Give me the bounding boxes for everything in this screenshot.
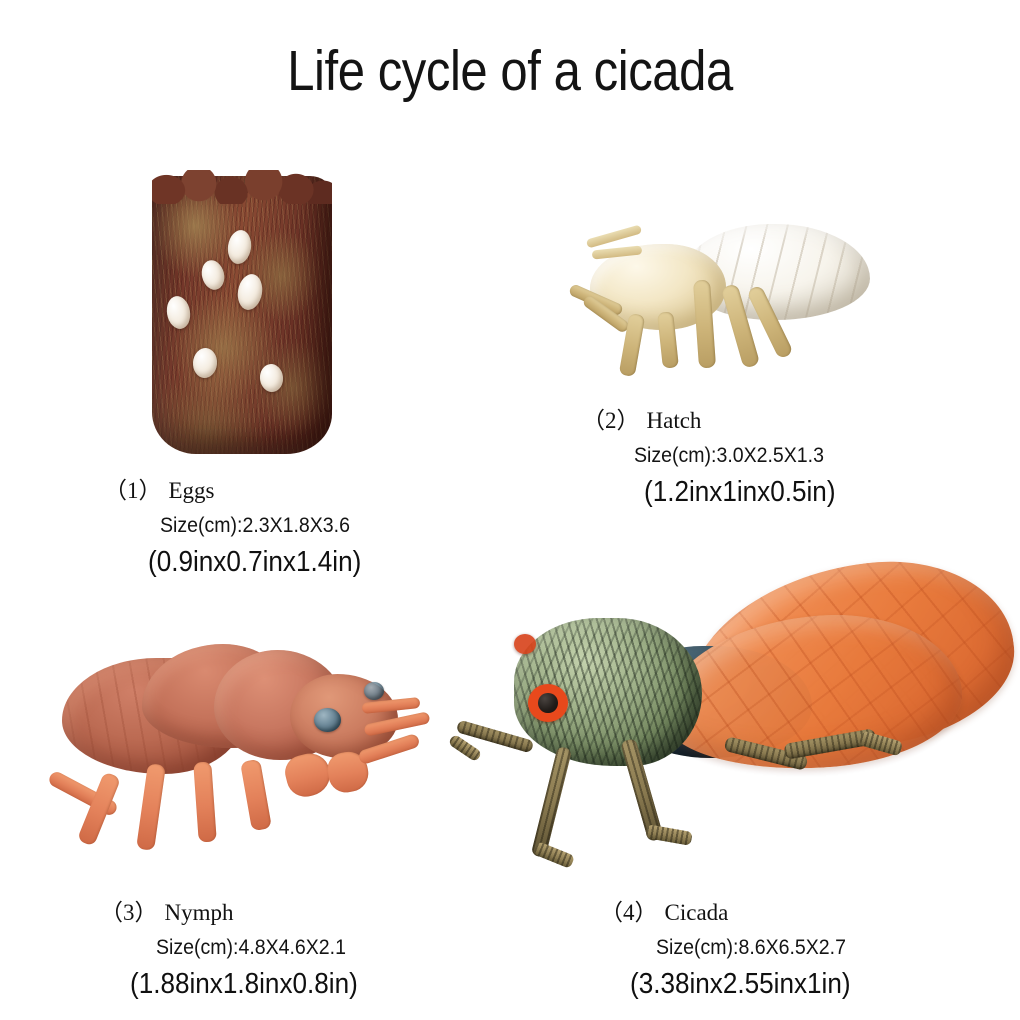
stage-eggs-size-in: (0.9inx0.7inx1.4in) — [148, 547, 361, 579]
stage-eggs-name-line: （1）Eggs — [104, 478, 385, 503]
stage-nymph-label: Nymph — [165, 900, 234, 925]
stage-nymph-name-line: （3）Nymph — [100, 900, 383, 925]
stage-eggs-label: Eggs — [169, 478, 215, 503]
stage-cicada-number: （4） — [600, 900, 658, 925]
stage-nymph-size-cm: Size(cm):4.8X4.6X2.1 — [156, 936, 367, 960]
nymph-leg — [136, 763, 166, 851]
caption-eggs: （1）Eggs Size(cm):2.3X1.8X3.6 (0.9inx0.7i… — [104, 478, 385, 579]
bark-crown — [152, 170, 332, 204]
stage-hatch-number: （2） — [582, 408, 640, 433]
stage-eggs-number: （1） — [104, 478, 162, 503]
stage-eggs-size-cm: Size(cm):2.3X1.8X3.6 — [160, 514, 369, 538]
nymph-eye — [314, 708, 341, 732]
page-title: Life cycle of a cicada — [71, 42, 948, 102]
nymph-eye — [364, 682, 384, 700]
caption-nymph: （3）Nymph Size(cm):4.8X4.6X2.1 (1.88inx1.… — [100, 900, 383, 1001]
stage-hatch-name-line: （2）Hatch — [582, 408, 857, 433]
stage-hatch-size-in: (1.2inx1inx0.5in) — [644, 477, 836, 509]
adult-cicada-photo — [448, 560, 1020, 890]
cicada-eye — [514, 634, 536, 654]
eggs-in-bark-photo — [138, 168, 348, 458]
cicada-eye — [528, 684, 568, 722]
cicada-tarsus — [645, 824, 693, 846]
nymph-leg — [240, 759, 272, 831]
stage-hatch-label: Hatch — [647, 408, 702, 433]
nymph-photo — [46, 636, 446, 876]
larva-antenna — [586, 224, 642, 248]
stage-cicada-size-in: (3.38inx2.55inx1in) — [630, 969, 851, 1001]
stage-cicada-label: Cicada — [665, 900, 729, 925]
cicada-midleg — [531, 746, 573, 858]
stage-nymph-number: （3） — [100, 900, 158, 925]
cicada-tarsus — [533, 841, 575, 869]
stage-cicada-name-line: （4）Cicada — [600, 900, 875, 925]
stage-hatch-size-cm: Size(cm):3.0X2.5X1.3 — [634, 444, 841, 468]
stage-cicada-size-cm: Size(cm):8.6X6.5X2.7 — [656, 936, 860, 960]
caption-hatch: （2）Hatch Size(cm):3.0X2.5X1.3 (1.2inx1in… — [582, 408, 857, 509]
caption-cicada: （4）Cicada Size(cm):8.6X6.5X2.7 (3.38inx2… — [600, 900, 875, 1001]
stage-nymph-size-in: (1.88inx1.8inx0.8in) — [130, 969, 358, 1001]
hatched-larva-photo — [566, 218, 876, 388]
nymph-leg — [193, 761, 217, 842]
